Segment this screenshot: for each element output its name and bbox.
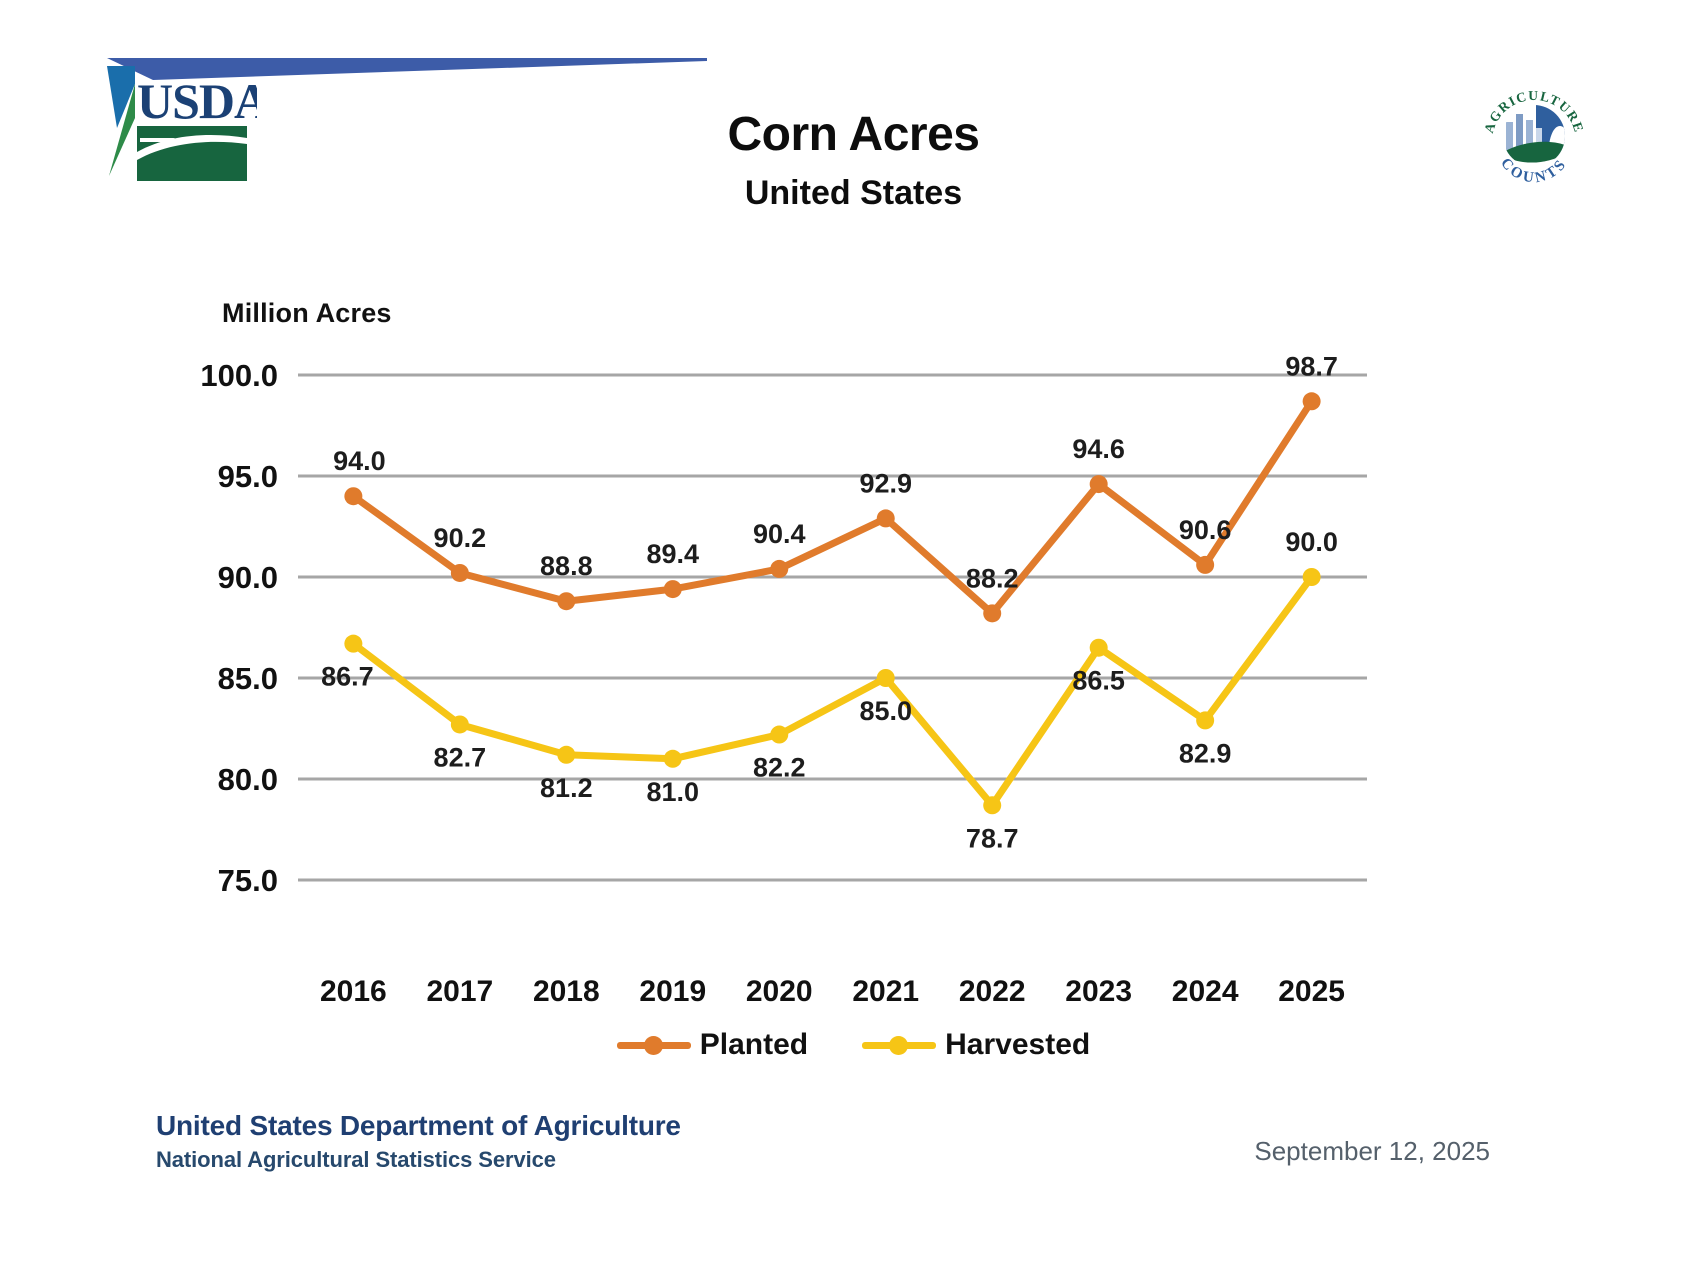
legend-item-harvested[interactable]: Harvested: [862, 1028, 1090, 1062]
data-point-marker: [983, 796, 1001, 814]
data-point-label: 88.2: [966, 563, 1019, 593]
x-axis-tick-2016: 2016: [320, 975, 387, 1009]
page-title: Corn Acres: [0, 110, 1707, 160]
data-point-marker: [451, 564, 469, 582]
x-axis-tick-2018: 2018: [533, 975, 600, 1009]
data-point-marker: [1196, 556, 1214, 574]
data-point-marker: [344, 487, 362, 505]
data-point-label: 82.7: [434, 742, 487, 772]
x-axis-tick-2025: 2025: [1278, 975, 1345, 1009]
data-point-label: 82.2: [753, 753, 806, 783]
legend-label: Harvested: [945, 1028, 1090, 1062]
data-point-marker: [1090, 475, 1108, 493]
footer-service-name: National Agricultural Statistics Service: [156, 1147, 556, 1173]
data-point-label: 94.6: [1072, 434, 1125, 464]
data-point-marker: [770, 726, 788, 744]
data-point-label: 90.6: [1179, 515, 1232, 545]
x-axis-ticks: 2016201720182019202020212022202320242025: [0, 975, 1707, 1021]
data-point-label: 88.8: [540, 551, 593, 581]
data-point-label: 78.7: [966, 823, 1019, 853]
footer-date: September 12, 2025: [1210, 1136, 1490, 1167]
y-axis-tick-label: 100.0: [200, 358, 278, 393]
series-line-harvested: [353, 577, 1311, 805]
legend-swatch-icon: [617, 1032, 691, 1058]
data-point-marker: [1303, 392, 1321, 410]
x-axis-tick-2021: 2021: [852, 975, 919, 1009]
data-point-label: 86.7: [321, 662, 374, 692]
footer-agency-name: United States Department of Agriculture: [156, 1110, 681, 1142]
data-point-marker: [1090, 639, 1108, 657]
data-point-marker: [877, 669, 895, 687]
data-point-label: 90.0: [1285, 527, 1338, 557]
legend-label: Planted: [700, 1028, 808, 1062]
legend-marker-dot: [889, 1036, 908, 1055]
legend-swatch-icon: [862, 1032, 936, 1058]
data-point-marker: [664, 580, 682, 598]
y-axis-tick-label: 90.0: [218, 560, 278, 595]
page-footer: United States Department of Agriculture …: [0, 1100, 1707, 1280]
legend-marker-dot: [644, 1036, 663, 1055]
data-point-label: 86.5: [1072, 666, 1125, 696]
y-axis-tick-label: 85.0: [218, 661, 278, 696]
x-axis-tick-2020: 2020: [746, 975, 813, 1009]
data-point-marker: [557, 592, 575, 610]
data-point-marker: [557, 746, 575, 764]
data-point-label: 94.0: [333, 446, 386, 476]
data-point-label: 89.4: [647, 539, 700, 569]
series-line-planted: [353, 401, 1311, 613]
y-axis-tick-label: 75.0: [218, 863, 278, 898]
data-point-marker: [664, 750, 682, 768]
x-axis-tick-2017: 2017: [426, 975, 493, 1009]
data-point-label: 82.9: [1179, 738, 1232, 768]
data-point-marker: [451, 715, 469, 733]
data-point-label: 81.2: [540, 773, 593, 803]
data-point-marker: [770, 560, 788, 578]
data-point-marker: [1303, 568, 1321, 586]
x-axis-tick-2023: 2023: [1065, 975, 1132, 1009]
data-point-label: 90.4: [753, 519, 806, 549]
title-block: Corn Acres United States: [0, 110, 1707, 212]
x-axis-tick-2022: 2022: [959, 975, 1026, 1009]
page-header: USDA AGRICULTURE COUNTS: [0, 0, 1707, 260]
data-point-marker: [344, 635, 362, 653]
data-point-label: 98.7: [1285, 351, 1338, 381]
data-point-label: 90.2: [434, 523, 487, 553]
data-point-label: 81.0: [647, 777, 700, 807]
x-axis-tick-2019: 2019: [639, 975, 706, 1009]
data-point-marker: [1196, 711, 1214, 729]
chart-container: Million Acres 100.095.090.085.080.075.09…: [0, 280, 1707, 1020]
line-chart-plot: 100.095.090.085.080.075.094.090.288.889.…: [0, 280, 1707, 980]
data-point-marker: [877, 509, 895, 527]
chart-legend: PlantedHarvested: [0, 1028, 1707, 1062]
x-axis-tick-2024: 2024: [1172, 975, 1239, 1009]
page-subtitle: United States: [0, 176, 1707, 212]
y-axis-tick-label: 80.0: [218, 762, 278, 797]
data-point-label: 85.0: [859, 696, 912, 726]
data-point-marker: [983, 604, 1001, 622]
data-point-label: 92.9: [859, 468, 912, 498]
y-axis-tick-label: 95.0: [218, 459, 278, 494]
legend-item-planted[interactable]: Planted: [617, 1028, 808, 1062]
